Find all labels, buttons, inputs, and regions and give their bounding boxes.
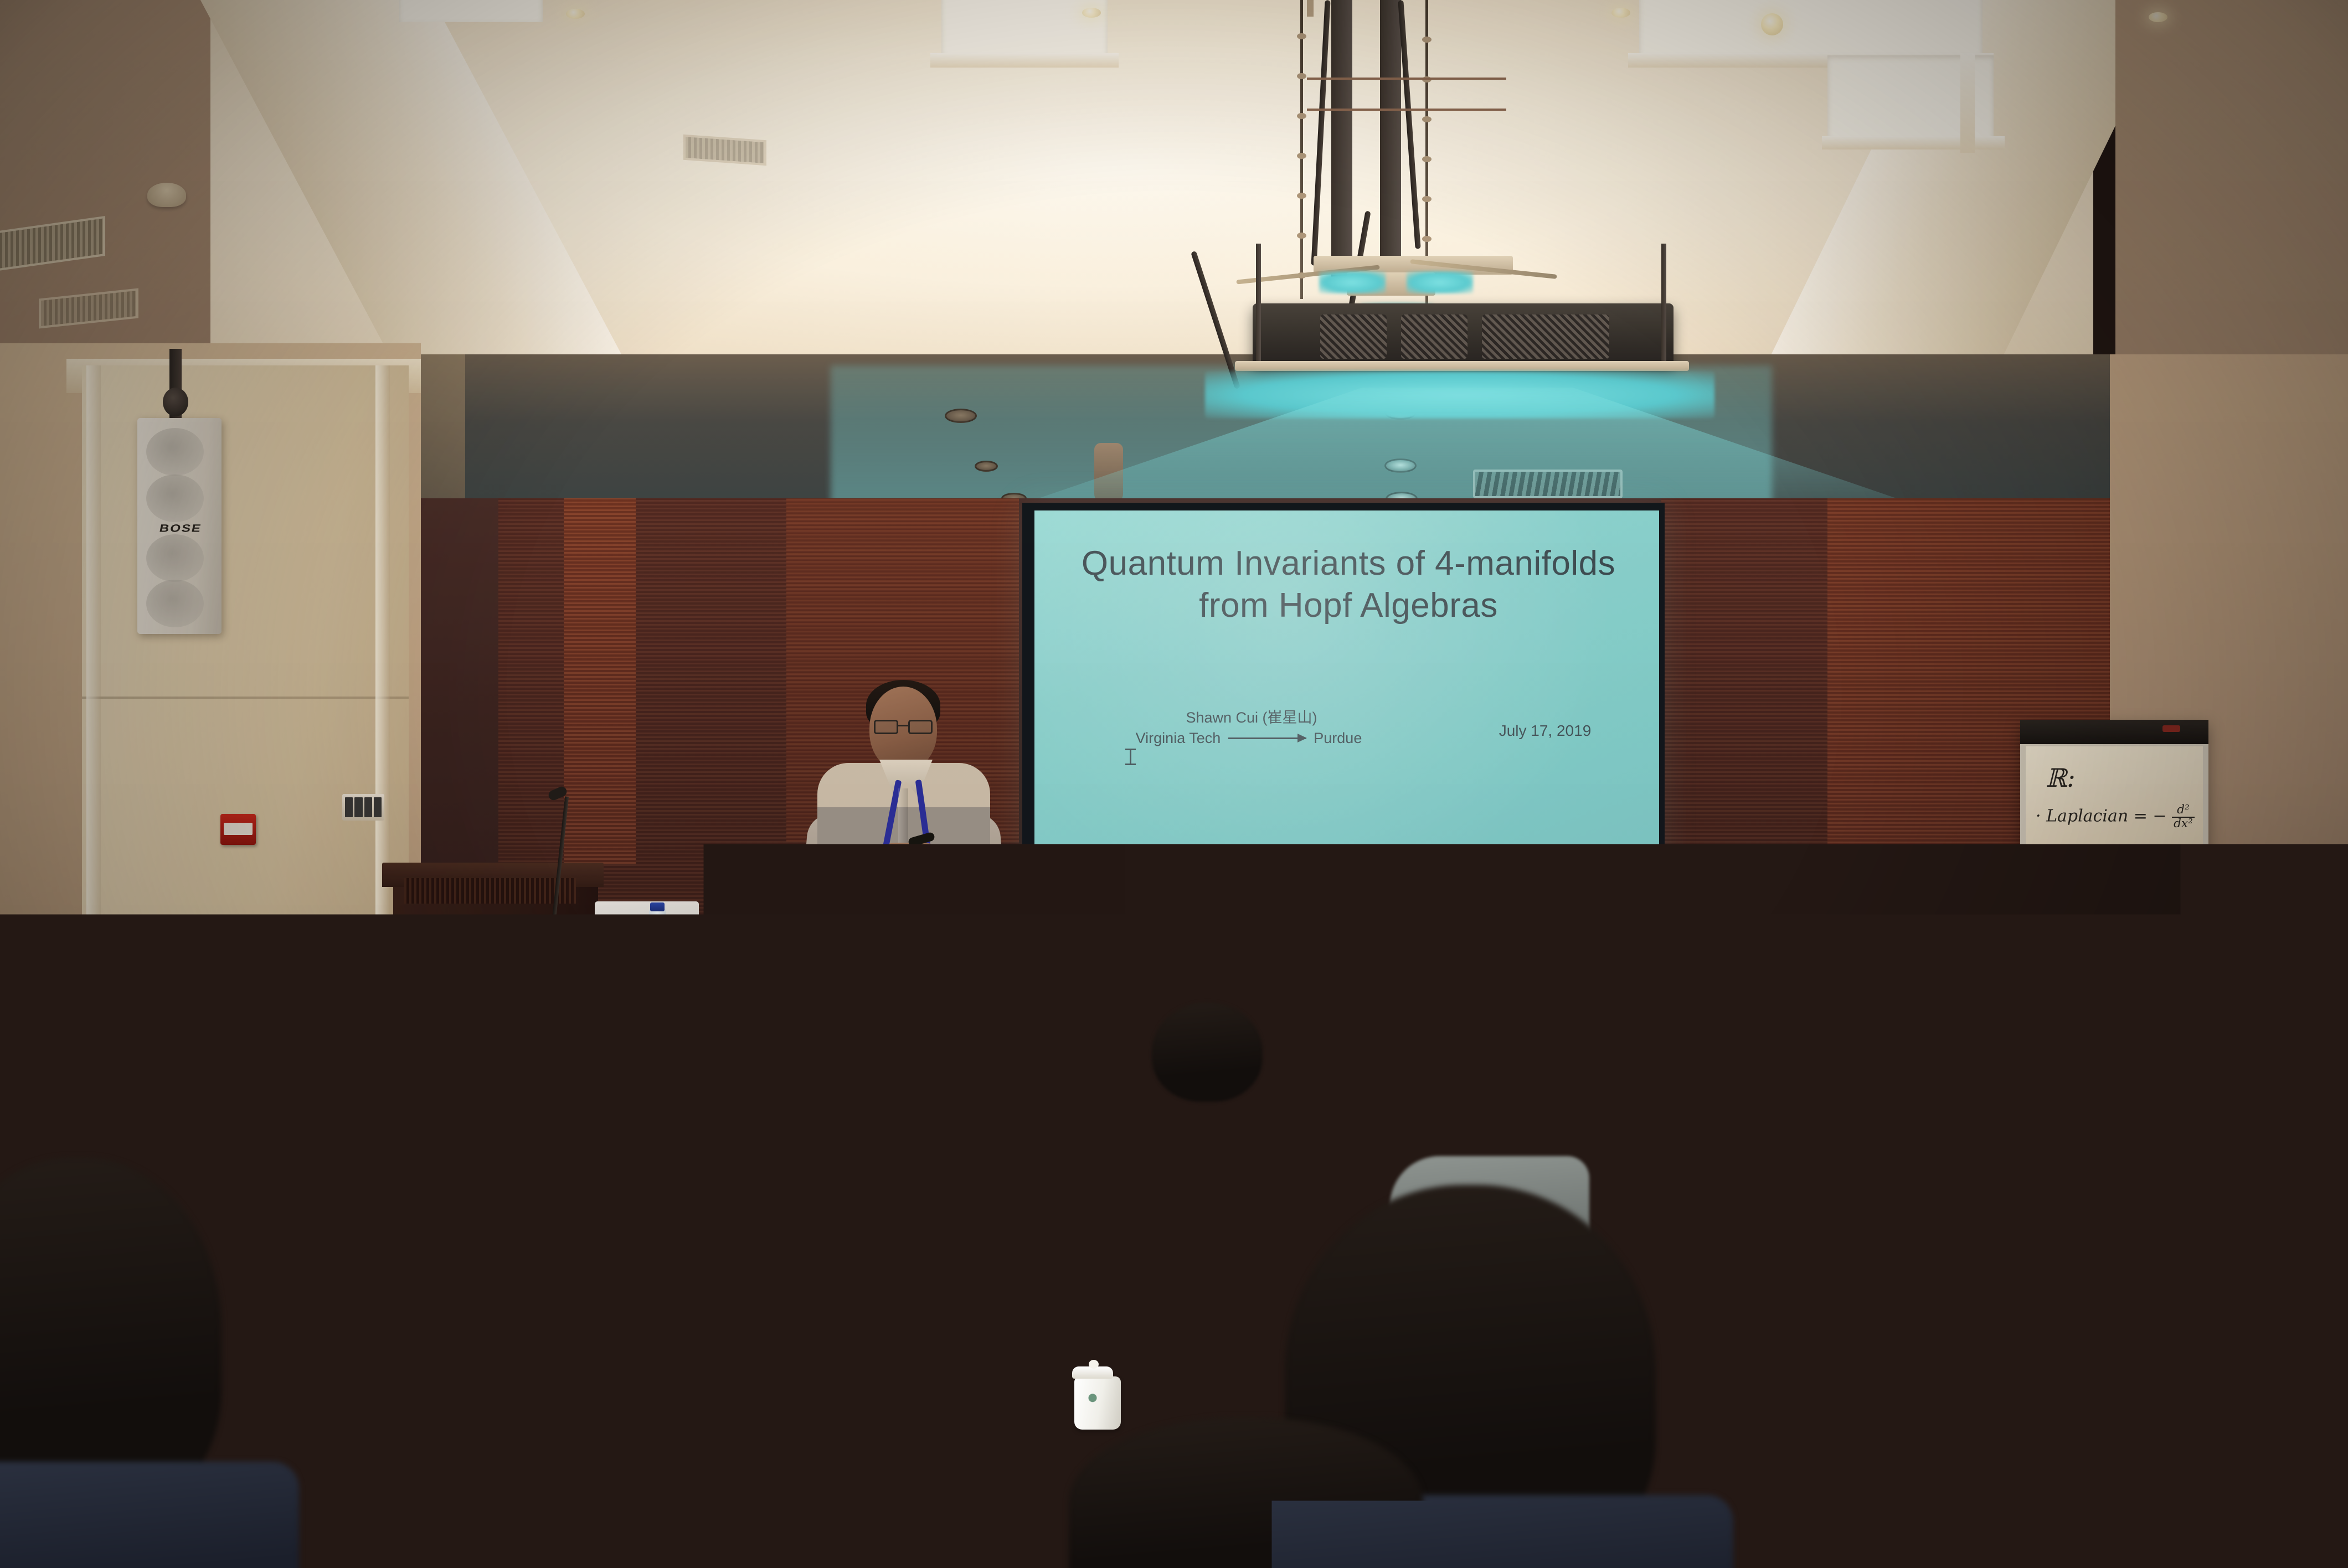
chair[interactable] <box>1827 1273 2038 1440</box>
chair[interactable] <box>2016 1156 2187 1311</box>
bottle-label <box>649 936 666 955</box>
whiteboard-line-2: · Laplacian = − d² dx² <box>2036 804 2195 830</box>
coffee-mug <box>382 1379 424 1430</box>
name-badge <box>886 875 928 902</box>
projector-light-leak <box>1319 271 1386 293</box>
whiteboard-fraction-2: d dx <box>2098 898 2118 927</box>
projector-crossbar <box>1307 78 1506 80</box>
bose-logo: BOSE <box>153 523 209 535</box>
lidded-teacup <box>1074 1376 1121 1430</box>
projector-strut <box>1331 0 1352 277</box>
slide-venue: In and around Topological Physics, KuanG… <box>1052 893 1318 933</box>
column-chamfer <box>375 365 390 1129</box>
bose-speaker: BOSE <box>137 418 222 634</box>
lectern-molding <box>404 878 576 904</box>
ceiling-beam <box>1960 53 1975 153</box>
affiliation-to: Purdue <box>1314 730 1362 747</box>
column-seam <box>82 927 409 929</box>
slide-author: Shawn Cui (崔星山) <box>1074 706 1429 729</box>
slide-page-number: 1 <box>1296 941 1329 953</box>
lidded-teacup <box>2282 1169 2318 1211</box>
ceiling-downlight <box>1761 13 1783 35</box>
fraction-denominator: dx² <box>2172 818 2195 831</box>
lecture-room-photo: BOSE Quantum Invariants of 4-manifolds f… <box>0 0 2348 1568</box>
ceiling-beam <box>1822 136 2005 149</box>
projector-light-leak <box>1407 271 1473 293</box>
venue-line2: KuanGou, Beijing, China <box>1052 912 1318 932</box>
fraction-denominator: dx <box>2098 914 2118 928</box>
lidded-teacup <box>2082 1105 2119 1147</box>
slide-title: Quantum Invariants of 4-manifolds from H… <box>1052 543 1645 626</box>
ceiling-coffer <box>399 0 543 22</box>
ceiling-downlight <box>945 409 977 423</box>
ceiling-beam <box>930 53 1119 68</box>
projector-strut <box>1380 0 1401 277</box>
projector-vent <box>1401 314 1468 359</box>
coffee-mug <box>354 1103 389 1143</box>
lidded-teacup <box>1357 1098 1393 1141</box>
whiteboard-line4-tail: . <box>2124 901 2130 923</box>
projector-cage-post <box>1661 244 1666 371</box>
ceiling-anchor <box>1307 0 1314 17</box>
projector-vent <box>1320 314 1387 359</box>
audience-laptop[interactable] <box>344 1168 455 1239</box>
whiteboard-line2-label: · Laplacian = − <box>2036 807 2167 826</box>
slide-title-line2: from Hopf Algebras <box>1052 585 1645 627</box>
glasses-icon <box>874 720 933 734</box>
arrow-right-icon <box>1228 737 1306 739</box>
bottle-cap <box>650 902 665 911</box>
lidded-teacup <box>1069 1105 1105 1147</box>
column-chamfer <box>86 365 101 1129</box>
ceiling-downlight <box>2149 12 2167 22</box>
whiteboard-marker <box>2162 725 2180 732</box>
ceiling-coffer <box>941 0 1108 55</box>
smoke-detector-icon <box>147 183 186 207</box>
chair[interactable] <box>2259 1417 2348 1568</box>
fraction-numerator: d <box>2098 898 2118 914</box>
ceiling-soffit-right <box>2115 0 2348 388</box>
flipchart-header-bar <box>2020 720 2208 744</box>
fire-alarm-icon[interactable] <box>220 814 256 845</box>
wall-wood-panel-lit <box>564 498 636 864</box>
joint-line2: (In progress) <box>1329 912 1617 932</box>
paper-sheet <box>2048 1353 2232 1395</box>
whiteboard-line-4: D = i d dx . <box>2043 898 2130 927</box>
slide-joint-credit: Joint with J. Chaidez and J. Cotler (In … <box>1329 893 1617 933</box>
projector-base-rail <box>1235 361 1689 371</box>
slide-title-line1: Quantum Invariants of 4-manifolds <box>1052 543 1645 585</box>
chair[interactable] <box>676 1379 930 1568</box>
chair[interactable] <box>426 1257 631 1440</box>
slide-date: July 17, 2019 <box>1429 722 1661 740</box>
projector-vent <box>1482 314 1609 359</box>
presenter-hands <box>879 843 940 877</box>
ceiling-downlight <box>566 9 585 19</box>
light-switch-panel[interactable] <box>342 794 384 821</box>
venue-line1: In and around Topological Physics, <box>1052 893 1318 912</box>
whiteboard-line-3: Dirac Operator: <box>2036 859 2165 878</box>
joint-line1: Joint with J. Chaidez and J. Cotler <box>1329 893 1617 912</box>
text-cursor-icon <box>1130 749 1131 765</box>
projector-cage-post <box>1256 244 1261 371</box>
fraction-numerator: d² <box>2172 804 2195 818</box>
ceiling-coffer <box>1639 0 1983 55</box>
notebook <box>1999 1471 2232 1524</box>
ceiling-downlight <box>1611 8 1630 18</box>
ceiling-downlight <box>1082 8 1101 18</box>
whiteboard-line-1: ℝ: <box>2046 763 2076 793</box>
whiteboard-fraction-1: d² dx² <box>2172 804 2195 830</box>
projector-crossbar <box>1307 109 1506 111</box>
speaker-bracket <box>163 388 188 416</box>
slide-affiliation: Virginia Tech Purdue <box>1066 730 1432 747</box>
affiliation-from: Virginia Tech <box>1136 730 1221 747</box>
whiteboard-line4-label: D = i <box>2043 901 2092 923</box>
ceiling-downlight <box>975 461 998 472</box>
column-seam <box>82 697 409 699</box>
